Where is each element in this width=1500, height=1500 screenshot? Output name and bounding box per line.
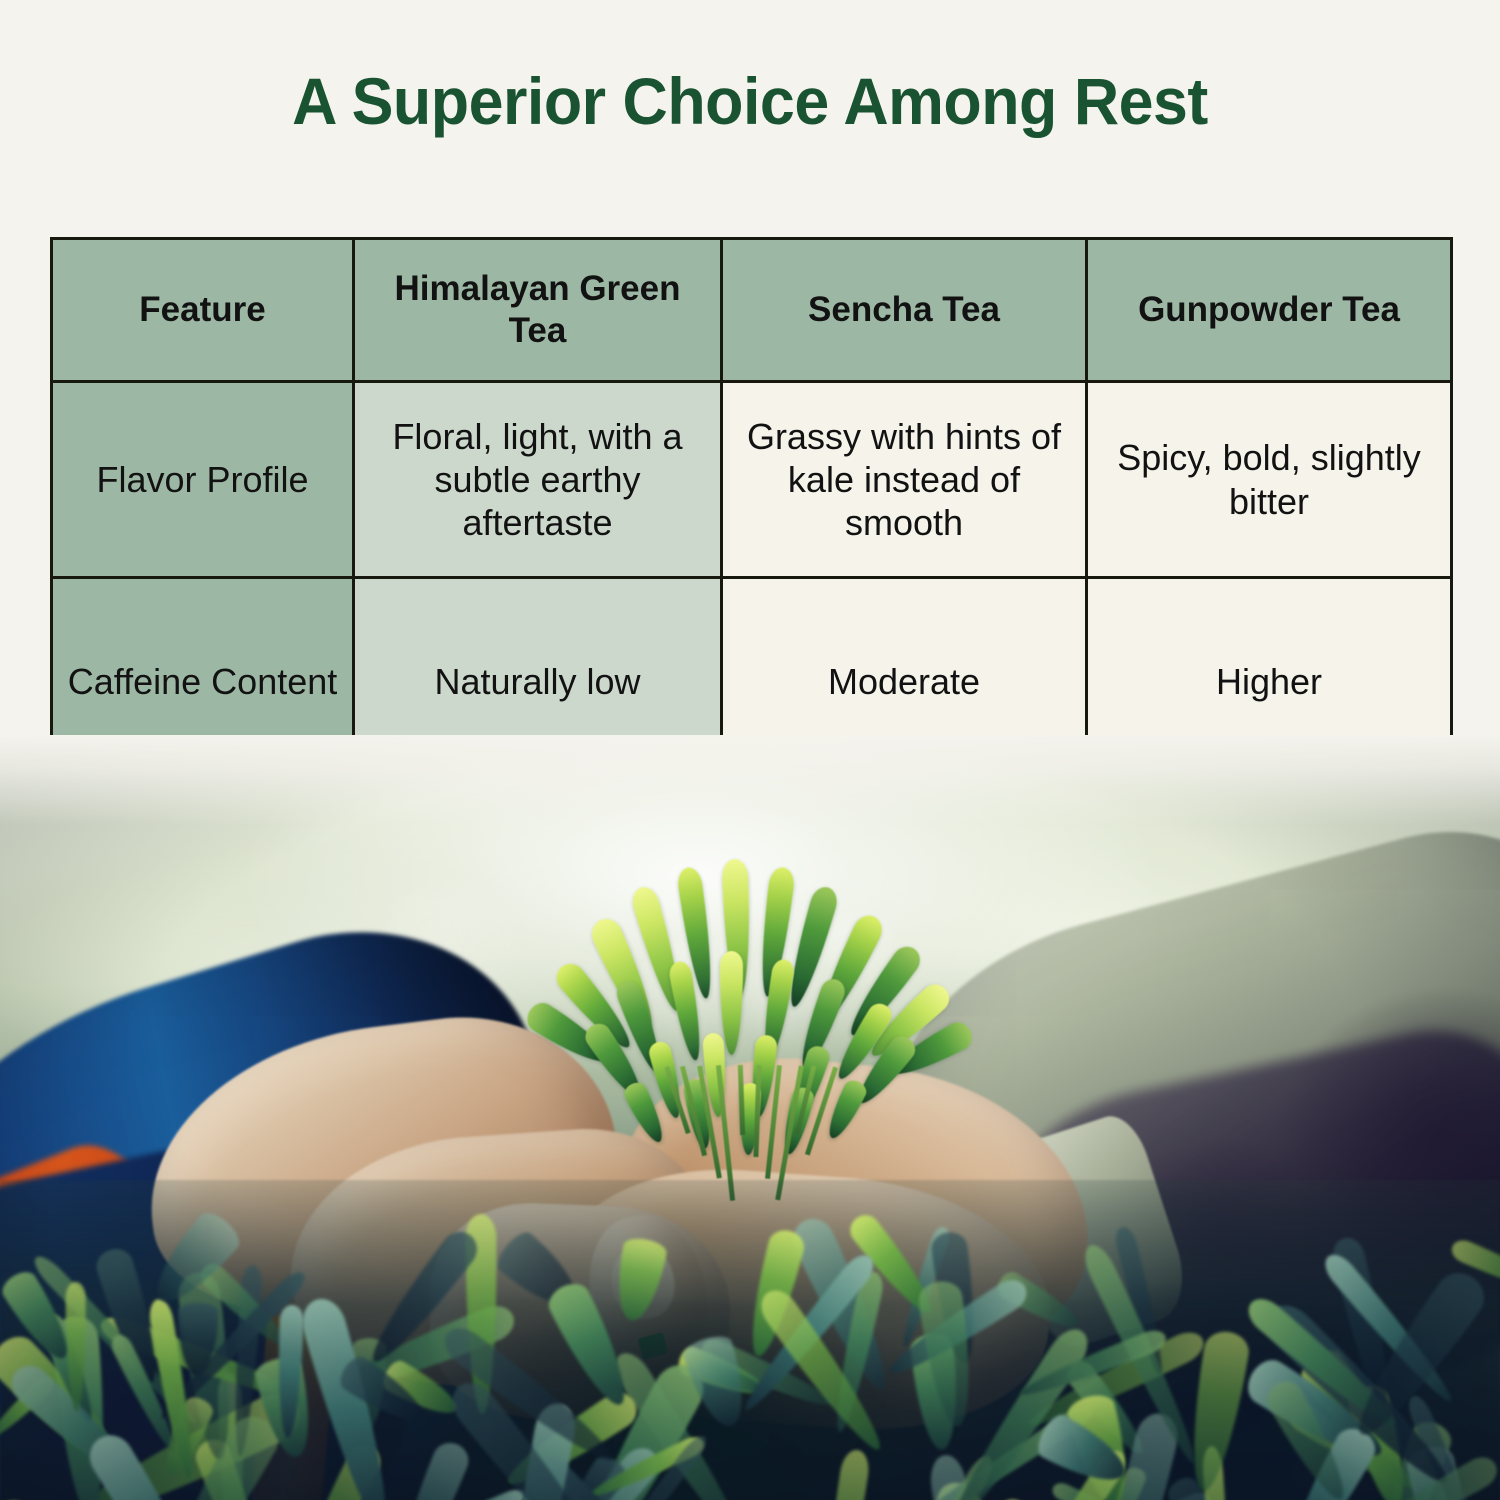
column-header-himalayan: Himalayan Green Tea — [354, 239, 722, 382]
column-header-sencha: Sencha Tea — [722, 239, 1087, 382]
page-title: A Superior Choice Among Rest — [38, 68, 1463, 134]
cell-sencha-flavor: Grassy with hints of kale instead of smo… — [722, 382, 1087, 578]
photo-vignette — [0, 735, 1500, 1500]
cell-himalayan-flavor: Floral, light, with a subtle earthy afte… — [354, 382, 722, 578]
tea-handover-photo — [0, 735, 1500, 1500]
table-body: Flavor Profile Floral, light, with a sub… — [52, 382, 1452, 786]
photo-top-fade — [0, 735, 1500, 825]
cell-feature-flavor: Flavor Profile — [52, 382, 354, 578]
infographic-canvas: A Superior Choice Among Rest Feature Him… — [0, 0, 1500, 1500]
column-header-feature: Feature — [52, 239, 354, 382]
tea-comparison-table: Feature Himalayan Green Tea Sencha Tea G… — [50, 237, 1453, 787]
table-row: Flavor Profile Floral, light, with a sub… — [52, 382, 1452, 578]
cell-gunpowder-flavor: Spicy, bold, slightly bitter — [1087, 382, 1452, 578]
column-header-gunpowder: Gunpowder Tea — [1087, 239, 1452, 382]
table-header: Feature Himalayan Green Tea Sencha Tea G… — [52, 239, 1452, 382]
table-header-row: Feature Himalayan Green Tea Sencha Tea G… — [52, 239, 1452, 382]
